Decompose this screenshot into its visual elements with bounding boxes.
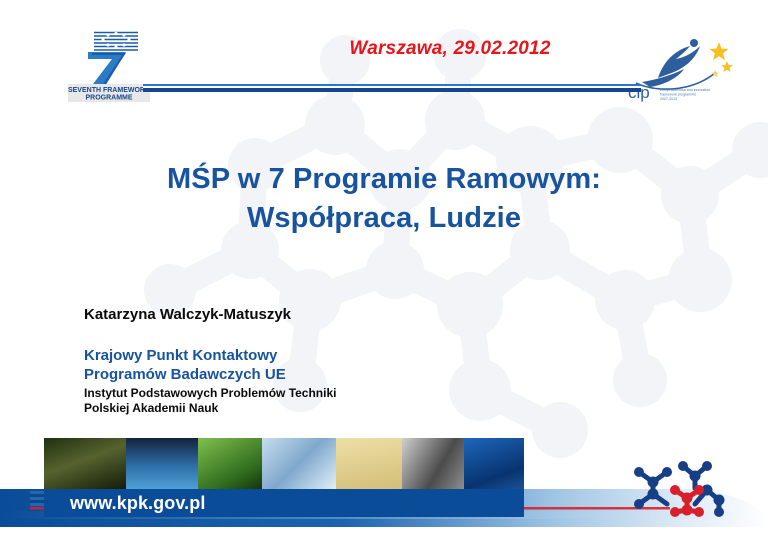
event-date-location: Warszawa, 29.02.2012 [300, 38, 600, 60]
green-plant-photo [198, 438, 262, 489]
header-divider-rule [143, 84, 641, 96]
institute-line1: Instytut Podstawowych Problemów Techniki [84, 386, 504, 401]
header-rule-thick [143, 88, 641, 92]
cip-tagline-line1: competitiveness and innovation [660, 88, 710, 92]
presenter-affiliation: Krajowy Punkt Kontaktowy Programów Badaw… [84, 346, 504, 384]
footer-banner: www.kpk.gov.pl [44, 438, 524, 526]
binary-data-photo [464, 438, 524, 489]
affiliation-line1: Krajowy Punkt Kontaktowy [84, 346, 504, 365]
slide-title-line1: MŚP w 7 Programie Ramowym: [64, 160, 704, 199]
fp7-logo: SEVENTH FRAMEWORK PROGRAMME [68, 26, 150, 102]
affiliation-line2: Programów Badawczych UE [84, 365, 504, 384]
slide-title: MŚP w 7 Programie Ramowym: Współpraca, L… [64, 160, 704, 238]
cip-tagline-line2: framework programme [660, 93, 696, 97]
presentation-slide: SEVENTH FRAMEWORK PROGRAMME Warszawa, 29… [0, 0, 768, 543]
presenter-institute: Instytut Podstawowych Problemów Techniki… [84, 386, 504, 416]
fp7-caption-line1: SEVENTH FRAMEWORK [68, 87, 150, 94]
cip-tagline-line3: 2007-2013 [660, 97, 677, 101]
hand-keyboard-photo [262, 438, 336, 489]
kpk-molecule-network-logo [625, 460, 730, 522]
slide-title-line2: Współpraca, Ludzie [64, 199, 704, 238]
metal-pipes-photo [402, 438, 464, 489]
presenter-name: Katarzyna Walczyk-Matuszyk [84, 305, 504, 325]
institute-line2: Polskiej Akademii Nauk [84, 401, 504, 416]
photo-strip [44, 438, 524, 489]
presenter-block: Katarzyna Walczyk-Matuszyk Krajowy Punkt… [84, 305, 504, 416]
website-url[interactable]: www.kpk.gov.pl [70, 492, 205, 514]
harbour-water-photo [126, 438, 198, 489]
speckled-sample-photo [336, 438, 402, 489]
laboratory-shelves-photo [44, 438, 126, 489]
fp7-caption-line2: PROGRAMME [85, 95, 132, 102]
